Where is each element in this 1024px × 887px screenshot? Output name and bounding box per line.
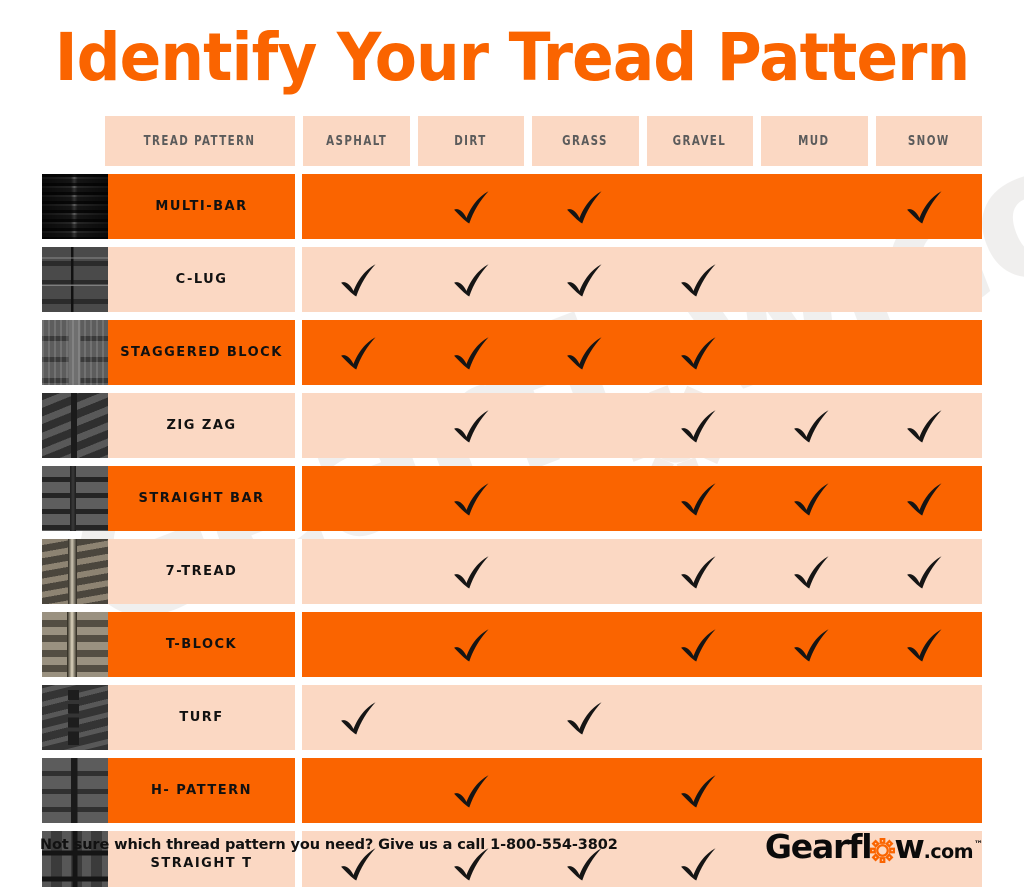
check-icon [677, 477, 721, 521]
check-icon [677, 623, 721, 667]
tread-thumbnail-h-pattern [42, 758, 108, 823]
tread-thumbnail-c-lug [42, 247, 108, 312]
check-icon [450, 331, 494, 375]
column-header-grass: GRASS [532, 116, 639, 166]
cell-mud [755, 247, 868, 312]
cell-dirt [415, 393, 528, 458]
check-icon [450, 404, 494, 448]
table-row: H- PATTERN [0, 758, 1024, 823]
cell-mud [755, 466, 868, 531]
cell-grass [529, 320, 642, 385]
tread-thumbnail-zig-zag [42, 393, 108, 458]
cell-grass [529, 466, 642, 531]
check-icon [337, 696, 381, 740]
tread-pattern-name: STRAIGHT BAR [108, 466, 295, 531]
tread-pattern-name: C-LUG [108, 247, 295, 312]
tread-image [42, 612, 108, 677]
row-divider [295, 539, 302, 604]
column-header-mud: MUD [761, 116, 868, 166]
column-header-tread-pattern: TREAD PATTERN [105, 116, 295, 166]
tread-image [42, 320, 108, 385]
cell-gravel [642, 247, 755, 312]
cell-mud [755, 539, 868, 604]
row-cells [302, 393, 982, 458]
cell-mud [755, 393, 868, 458]
row-cells [302, 466, 982, 531]
row-divider [295, 758, 302, 823]
cell-gravel [642, 539, 755, 604]
column-header-gravel: GRAVEL [647, 116, 754, 166]
tread-pattern-name: ZIG ZAG [108, 393, 295, 458]
check-icon [563, 331, 607, 375]
cell-mud [755, 685, 868, 750]
check-icon [563, 258, 607, 302]
check-icon [790, 623, 834, 667]
check-icon [450, 769, 494, 813]
cell-gravel [642, 320, 755, 385]
table-row: STAGGERED BLOCK [0, 320, 1024, 385]
tread-pattern-name: 7-TREAD [108, 539, 295, 604]
table-row: T-BLOCK [0, 612, 1024, 677]
cell-snow [869, 174, 982, 239]
table-row: TURF [0, 685, 1024, 750]
check-icon [677, 769, 721, 813]
check-icon [337, 258, 381, 302]
tread-pattern-name: STAGGERED BLOCK [108, 320, 295, 385]
row-divider [295, 393, 302, 458]
row-divider [295, 174, 302, 239]
table-header-row: TREAD PATTERNASPHALTDIRTGRASSGRAVELMUDSN… [0, 116, 1024, 166]
cell-snow [869, 685, 982, 750]
row-divider [295, 247, 302, 312]
cell-grass [529, 539, 642, 604]
row-cells [302, 320, 982, 385]
check-icon [903, 550, 947, 594]
row-cells [302, 174, 982, 239]
cell-dirt [415, 612, 528, 677]
cell-gravel [642, 174, 755, 239]
check-icon [677, 550, 721, 594]
cell-gravel [642, 393, 755, 458]
cell-mud [755, 758, 868, 823]
check-icon [337, 331, 381, 375]
cell-dirt [415, 320, 528, 385]
check-icon [677, 404, 721, 448]
cell-snow [869, 612, 982, 677]
check-icon [790, 404, 834, 448]
check-icon [450, 185, 494, 229]
check-icon [790, 550, 834, 594]
cell-gravel [642, 612, 755, 677]
cell-dirt [415, 685, 528, 750]
row-cells [302, 685, 982, 750]
cell-dirt [415, 174, 528, 239]
column-header-label: SNOW [908, 134, 950, 149]
tread-image [42, 393, 108, 458]
column-header-label: TREAD PATTERN [144, 134, 256, 149]
tread-image [42, 539, 108, 604]
cell-asphalt [302, 539, 415, 604]
cell-grass [529, 758, 642, 823]
cell-dirt [415, 758, 528, 823]
column-header-dirt: DIRT [418, 116, 525, 166]
check-icon [790, 477, 834, 521]
table-row: ZIG ZAG [0, 393, 1024, 458]
cell-mud [755, 612, 868, 677]
check-icon [450, 623, 494, 667]
logo-dotcom: .com [924, 841, 973, 863]
logo-part1: Gearfl [765, 827, 871, 866]
cell-grass [529, 393, 642, 458]
column-header-label: GRAVEL [673, 134, 727, 149]
cell-asphalt [302, 758, 415, 823]
tread-image [42, 758, 108, 823]
cell-grass [529, 174, 642, 239]
cell-asphalt [302, 612, 415, 677]
cell-gravel [642, 466, 755, 531]
gearflow-logo[interactable]: Gearfl [765, 827, 982, 866]
row-cells [302, 539, 982, 604]
column-header-snow: SNOW [876, 116, 983, 166]
row-cells [302, 247, 982, 312]
tread-thumbnail-t-block [42, 612, 108, 677]
page-title: Identify Your Tread Pattern [36, 22, 988, 94]
check-icon [903, 404, 947, 448]
tread-pattern-name: MULTI-BAR [108, 174, 295, 239]
table-row: MULTI-BAR [0, 174, 1024, 239]
column-header-label: GRASS [562, 134, 608, 149]
table-row: C-LUG [0, 247, 1024, 312]
cell-gravel [642, 685, 755, 750]
cell-dirt [415, 466, 528, 531]
cell-asphalt [302, 320, 415, 385]
cell-grass [529, 612, 642, 677]
column-header-label: DIRT [455, 134, 487, 149]
row-divider [295, 612, 302, 677]
cell-asphalt [302, 466, 415, 531]
tread-thumbnail-multi-bar [42, 174, 108, 239]
footer-contact-text: Not sure which thread pattern you need? … [40, 837, 618, 853]
tread-image [42, 247, 108, 312]
cell-asphalt [302, 247, 415, 312]
cell-mud [755, 320, 868, 385]
row-divider [295, 685, 302, 750]
check-icon [450, 477, 494, 521]
table-row: STRAIGHT BAR [0, 466, 1024, 531]
check-icon [563, 696, 607, 740]
check-icon [677, 331, 721, 375]
infographic-root: Gearfl [0, 0, 1024, 887]
cell-snow [869, 393, 982, 458]
row-cells [302, 758, 982, 823]
cell-mud [755, 174, 868, 239]
table-row: 7-TREAD [0, 539, 1024, 604]
cell-snow [869, 320, 982, 385]
cell-asphalt [302, 393, 415, 458]
tread-image [42, 466, 108, 531]
column-header-asphalt: ASPHALT [303, 116, 410, 166]
tread-thumbnail-7-tread [42, 539, 108, 604]
tread-thumbnail-turf [42, 685, 108, 750]
check-icon [450, 550, 494, 594]
column-header-label: ASPHALT [326, 134, 387, 149]
cell-snow [869, 466, 982, 531]
check-icon [903, 185, 947, 229]
table-body: MULTI-BARC-LUGSTAGGERED BLOCKZIG ZAGSTRA… [0, 174, 1024, 887]
cell-snow [869, 539, 982, 604]
cell-dirt [415, 247, 528, 312]
tread-pattern-name: H- PATTERN [108, 758, 295, 823]
row-cells [302, 612, 982, 677]
tread-thumbnail-straight-bar [42, 466, 108, 531]
tread-image [42, 174, 108, 239]
cell-grass [529, 247, 642, 312]
cell-asphalt [302, 685, 415, 750]
tread-pattern-name: TURF [108, 685, 295, 750]
check-icon [903, 477, 947, 521]
check-icon [903, 623, 947, 667]
cell-asphalt [302, 174, 415, 239]
logo-part2: w [894, 827, 923, 866]
footer: Not sure which thread pattern you need? … [0, 827, 1024, 869]
cell-snow [869, 758, 982, 823]
tread-thumbnail-staggered-block [42, 320, 108, 385]
tread-pattern-table: TREAD PATTERNASPHALTDIRTGRASSGRAVELMUDSN… [0, 116, 1024, 887]
row-divider [295, 466, 302, 531]
check-icon [450, 258, 494, 302]
cell-dirt [415, 539, 528, 604]
check-icon [563, 185, 607, 229]
column-header-label: MUD [799, 134, 830, 149]
logo-tm: ™ [974, 840, 983, 850]
gear-icon [870, 838, 895, 863]
tread-pattern-name: T-BLOCK [108, 612, 295, 677]
cell-grass [529, 685, 642, 750]
cell-gravel [642, 758, 755, 823]
tread-image [42, 685, 108, 750]
cell-snow [869, 247, 982, 312]
row-divider [295, 320, 302, 385]
check-icon [677, 258, 721, 302]
